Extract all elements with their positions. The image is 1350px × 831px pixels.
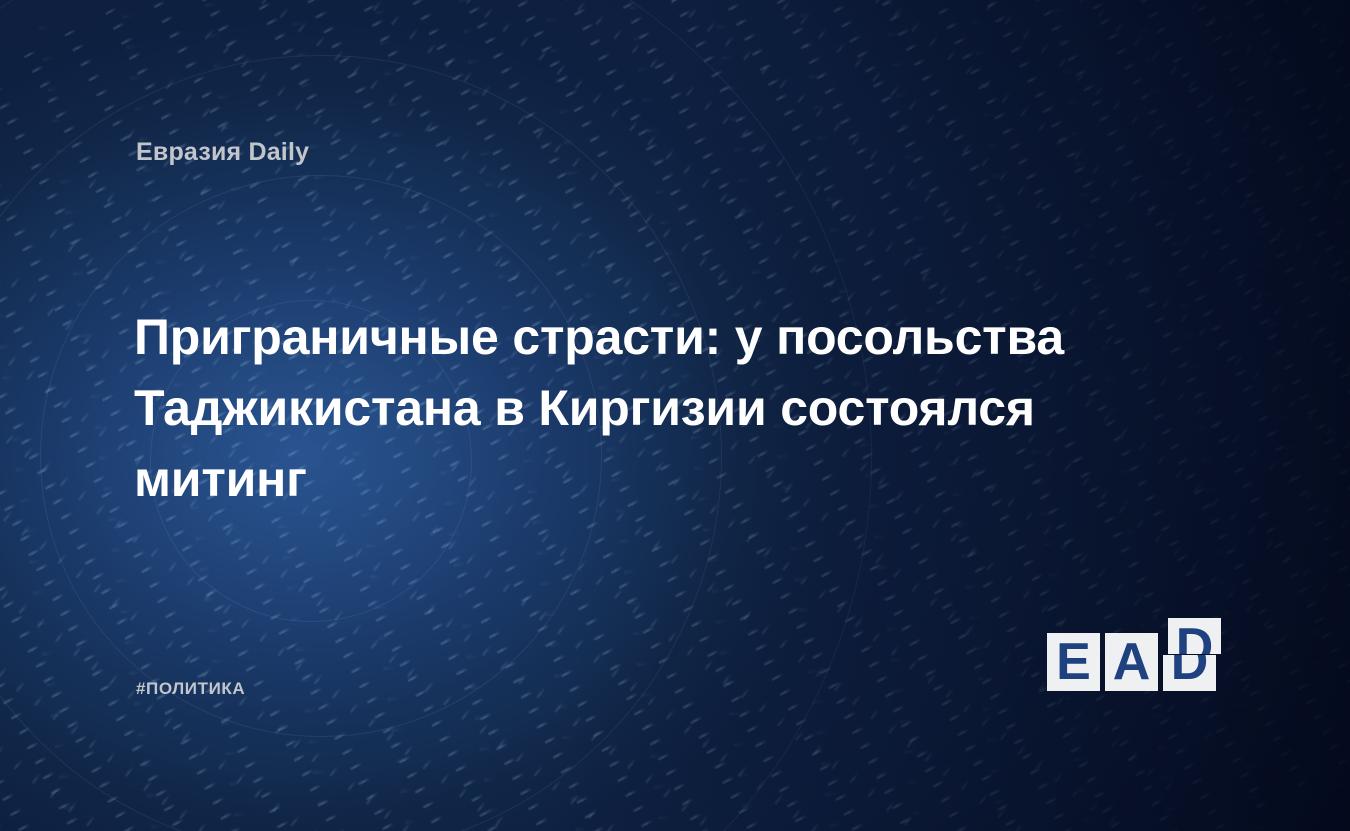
logo-letter-d-glyph-bottom: D: [1163, 655, 1216, 691]
logo-letter-a: A: [1105, 633, 1158, 691]
logo-letter-d-glyph-top: D: [1168, 618, 1221, 654]
publication-brand: Евразия Daily: [136, 138, 309, 167]
article-headline: Приграничные страсти: у посольства Таджи…: [134, 302, 1194, 515]
ead-logo: E A D D: [1047, 633, 1219, 691]
news-share-card: Евразия Daily Приграничные страсти: у по…: [0, 0, 1350, 831]
logo-letter-d-bottom-half: D: [1163, 655, 1216, 691]
logo-letter-d: D D: [1163, 618, 1219, 706]
logo-letter-e: E: [1047, 633, 1100, 691]
category-hashtag: #ПОЛИТИКА: [136, 679, 245, 699]
logo-letter-d-top-half: D: [1168, 618, 1221, 654]
